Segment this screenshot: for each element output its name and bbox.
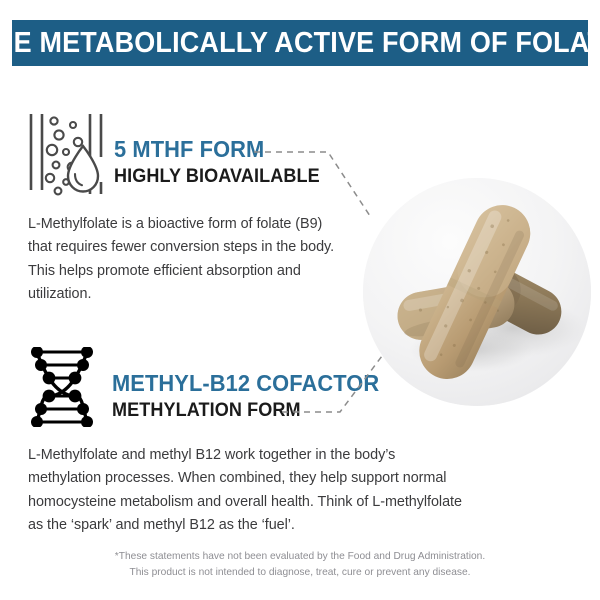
section-2-body: L-Methylfolate and methyl B12 work toget… [28,444,468,537]
section-2-subheading: METHYLATION FORM [112,401,379,420]
section-1-subheading: HIGHLY BIOAVAILABLE [114,167,320,186]
disclaimer-line-1: *These statements have not been evaluate… [0,549,600,565]
section-1-heading: 5 MTHF FORM [114,138,320,161]
water-droplet-absorption-icon [28,112,106,201]
page-title: THE METABOLICALLY ACTIVE FORM OF FOLATE [0,29,600,58]
header-banner: THE METABOLICALLY ACTIVE FORM OF FOLATE [12,20,588,66]
disclaimer-line-2: This product is not intended to diagnose… [0,565,600,581]
section-2-heading: METHYL-B12 COFACTOR [112,372,379,395]
section-2-heading-group: METHYL-B12 COFACTOR METHYLATION FORM [112,372,393,420]
section-1-heading-group: 5 MTHF FORM HIGHLY BIOAVAILABLE [114,138,331,186]
fda-disclaimer: *These statements have not been evaluate… [0,549,600,581]
product-photo-capsules [363,178,591,406]
dna-helix-icon [28,347,96,432]
section-1-body: L-Methylfolate is a bioactive form of fo… [28,213,348,306]
infographic-page: THE METABOLICALLY ACTIVE FORM OF FOLATE [0,0,600,600]
